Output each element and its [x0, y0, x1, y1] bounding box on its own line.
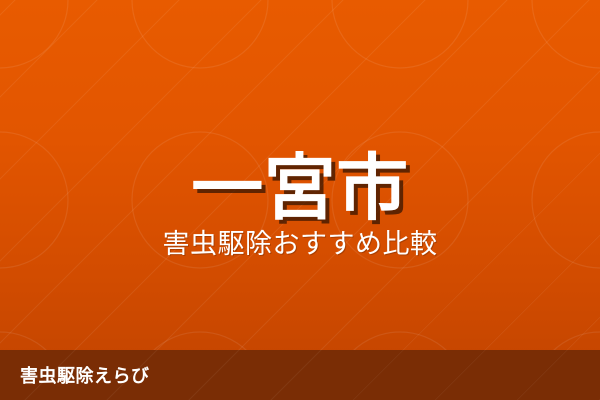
- page-subtitle: 害虫駆除おすすめ比較: [0, 230, 600, 260]
- title-block: 一宮市 害虫駆除おすすめ比較: [0, 152, 600, 260]
- footer-bar: 害虫駆除えらび: [0, 350, 600, 400]
- site-name[interactable]: 害虫駆除えらび: [20, 362, 150, 388]
- eyecatch-banner: 一宮市 害虫駆除おすすめ比較 害虫駆除えらび: [0, 0, 600, 400]
- page-title: 一宮市: [0, 152, 600, 224]
